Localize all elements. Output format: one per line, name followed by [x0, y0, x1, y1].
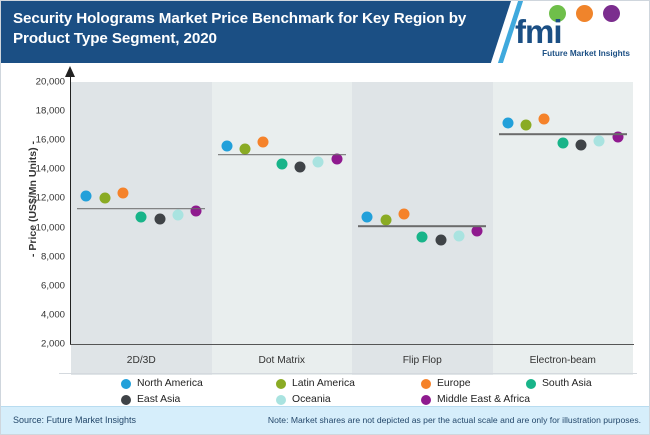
- legend-label: South Asia: [542, 378, 592, 389]
- legend-label: Europe: [437, 378, 471, 389]
- data-point: [313, 157, 324, 168]
- plot-area: [71, 82, 633, 344]
- data-point: [472, 226, 483, 237]
- legend-swatch-icon: [421, 395, 431, 405]
- legend-item[interactable]: Oceania: [276, 394, 331, 405]
- footer-note-text: Note: Market shares are not depicted as …: [268, 415, 641, 425]
- data-point: [539, 114, 550, 125]
- legend-swatch-icon: [121, 395, 131, 405]
- average-line: [218, 154, 346, 156]
- category-band: [352, 82, 493, 344]
- data-point: [435, 234, 446, 245]
- legend-swatch-icon: [121, 379, 131, 389]
- average-line: [358, 225, 486, 227]
- fmi-logo: fmi Future Market Insights: [513, 5, 641, 61]
- y-axis-tick-label: 6,000: [9, 280, 65, 291]
- y-axis-tick-label: 20,000: [9, 77, 65, 88]
- y-axis-tick-label: 4,000: [9, 309, 65, 320]
- legend-divider: [59, 373, 637, 374]
- legend-label: Oceania: [292, 394, 331, 405]
- legend-label: East Asia: [137, 394, 180, 405]
- page-title: Security Holograms Market Price Benchmar…: [13, 9, 483, 49]
- legend-item[interactable]: North America: [121, 378, 203, 389]
- y-axis-tick-label: 8,000: [9, 251, 65, 262]
- legend-item[interactable]: East Asia: [121, 394, 180, 405]
- chart-page: Security Holograms Market Price Benchmar…: [0, 0, 650, 435]
- legend-item[interactable]: Middle East & Africa: [421, 394, 530, 405]
- legend-swatch-icon: [276, 379, 286, 389]
- data-point: [417, 232, 428, 243]
- legend-item[interactable]: Europe: [421, 378, 471, 389]
- legend-label: Middle East & Africa: [437, 394, 530, 405]
- legend-swatch-icon: [421, 379, 431, 389]
- page-footer: Source: Future Market Insights Note: Mar…: [1, 406, 650, 434]
- data-point: [154, 214, 165, 225]
- y-axis-tick-label: 12,000: [9, 193, 65, 204]
- x-axis-category-label: Electron-beam: [493, 345, 634, 375]
- data-point: [136, 211, 147, 222]
- x-axis-category-labels: 2D/3DDot MatrixFlip FlopElectron-beam: [71, 345, 633, 375]
- data-point: [362, 212, 373, 223]
- data-point: [172, 210, 183, 221]
- y-axis-tick-label: 18,000: [9, 106, 65, 117]
- data-point: [398, 208, 409, 219]
- y-axis-tick-label: 16,000: [9, 135, 65, 146]
- data-point: [81, 190, 92, 201]
- data-point: [258, 137, 269, 148]
- data-point: [521, 119, 532, 130]
- data-point: [502, 117, 513, 128]
- data-point: [380, 214, 391, 225]
- legend-item[interactable]: Latin America: [276, 378, 355, 389]
- y-axis-tick-label: 2,000: [9, 339, 65, 350]
- data-point: [99, 193, 110, 204]
- legend-swatch-icon: [276, 395, 286, 405]
- logo-tagline: Future Market Insights: [531, 49, 641, 58]
- x-axis-category-label: Flip Flop: [352, 345, 493, 375]
- average-line: [499, 134, 627, 136]
- data-point: [594, 135, 605, 146]
- category-band: [493, 82, 634, 344]
- legend-label: North America: [137, 378, 203, 389]
- x-axis-category-label: 2D/3D: [71, 345, 212, 375]
- category-band: [212, 82, 353, 344]
- data-point: [576, 139, 587, 150]
- data-point: [557, 138, 568, 149]
- data-point: [240, 143, 251, 154]
- legend-swatch-icon: [526, 379, 536, 389]
- y-axis-tick-label: 14,000: [9, 164, 65, 175]
- data-point: [221, 141, 232, 152]
- data-point: [453, 230, 464, 241]
- legend-item[interactable]: South Asia: [526, 378, 592, 389]
- y-axis-tick-labels: 2,0004,0006,0008,00010,00012,00014,00016…: [1, 63, 69, 363]
- data-point: [117, 188, 128, 199]
- chart-container: - Price (US$/Mn Units) - 2,0004,0006,000…: [1, 63, 650, 363]
- data-point: [276, 159, 287, 170]
- logo-wordmark: fmi: [515, 15, 639, 49]
- average-line: [77, 208, 205, 210]
- legend-label: Latin America: [292, 378, 355, 389]
- y-axis-tick-label: 10,000: [9, 222, 65, 233]
- x-axis-category-label: Dot Matrix: [212, 345, 353, 375]
- data-point: [295, 162, 306, 173]
- footer-source-text: Source: Future Market Insights: [13, 415, 136, 425]
